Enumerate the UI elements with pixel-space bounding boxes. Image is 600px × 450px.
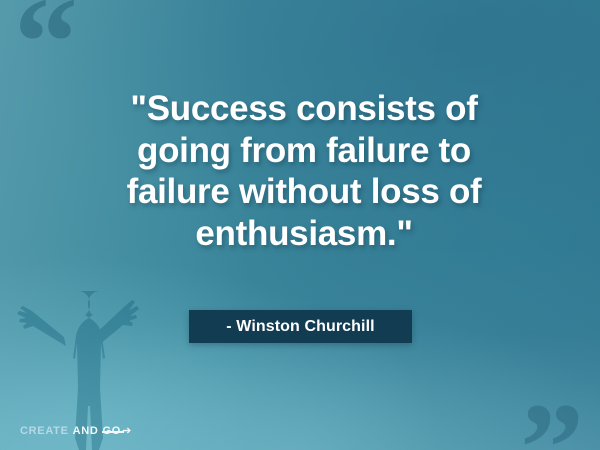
quote-text-block: "Success consists of going from failure … [52,88,556,255]
quote-graphic-canvas: “ ” "Success consists of going from fail… [0,0,600,450]
quote-line: enthusiasm." [52,213,556,255]
quote-line: failure without loss of [52,171,556,213]
quote-line: going from failure to [52,130,556,172]
brand-go-group: GO ➔ [103,425,132,437]
decorative-close-quote-icon: ” [520,384,584,450]
quote-line: "Success consists of [52,88,556,130]
celebrating-person-silhouette [8,265,148,450]
brand-word-and: AND [73,425,99,437]
brand-word-create: CREATE [20,425,69,437]
attribution-badge: - Winston Churchill [189,310,412,343]
brand-strikethrough-rule [102,431,125,433]
attribution-text: - Winston Churchill [226,318,374,336]
brand-logo: CREATE AND GO ➔ [20,425,131,437]
